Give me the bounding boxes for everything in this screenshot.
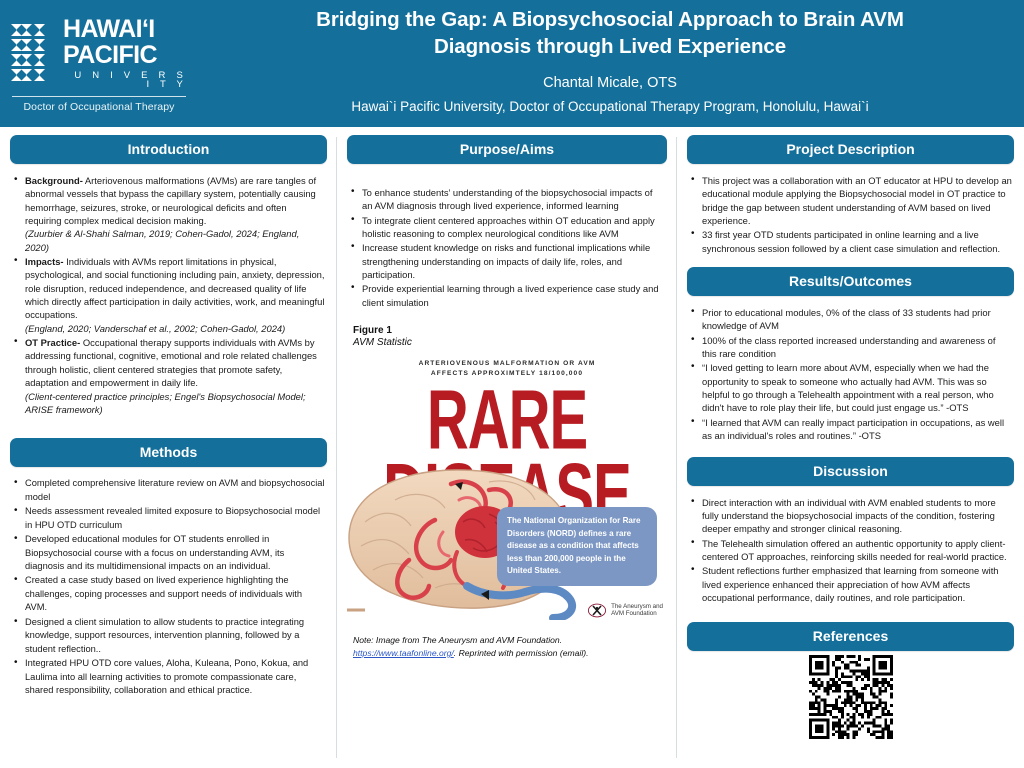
figure-source-link[interactable]: https://www.taafonline.org/ [353,648,454,658]
university-logo: HAWAI‘I PACIFIC U N I V E R S I T Y Doct… [0,0,196,127]
list-item: Designed a client simulation to allow st… [14,616,325,656]
figure-subtitle: AVM Statistic [353,337,665,348]
list-item: Impacts- Individuals with AVMs report li… [14,255,325,335]
list-item: This project was a collaboration with an… [691,174,1012,227]
introduction-list: Background- Arteriovenous malformations … [14,174,325,416]
intro-lead-1: Impacts- [25,256,64,267]
poster-affiliation: Hawai`i Pacific University, Doctor of Oc… [351,99,868,114]
poster-header: HAWAI‘I PACIFIC U N I V E R S I T Y Doct… [0,0,1024,127]
purpose-list: To enhance students’ understanding of th… [351,186,665,309]
intro-citation-1: (England, 2020; Vanderschaf et al., 2002… [25,322,325,335]
hpu-tapa-pattern-icon [10,22,56,84]
intro-lead-0: Background- [25,175,83,186]
logo-line-pacific: PACIFIC [63,43,188,68]
results-list: Prior to educational modules, 0% of the … [691,306,1012,442]
list-item: Developed educational modules for OT stu… [14,533,325,573]
logo-lockup: HAWAI‘I PACIFIC U N I V E R S I T Y [10,17,188,90]
column-center: Purpose/Aims To enhance students’ unders… [337,127,677,768]
list-item: 33 first year OTD students participated … [691,228,1012,255]
column-left: Introduction Background- Arteriovenous m… [0,127,337,768]
intro-citation-0: (Zuurbier & Al-Shahi Salman, 2019; Cohen… [25,227,325,254]
taaf-credit-line2: AVM Foundation [611,610,663,618]
references-qr-block [685,655,1016,739]
taaf-credit: The Aneurysm and AVM Foundation [587,603,663,619]
list-item: OT Practice- Occupational therapy suppor… [14,336,325,416]
taaf-logo-icon [587,603,607,618]
figure-note: Note: Image from The Aneurysm and AVM Fo… [353,634,663,660]
figure-note-before: Note: Image from The Aneurysm and AVM Fo… [353,635,562,645]
figure-image-line1: ARTERIOVENOUS MALFORMATION OR AVM [347,359,667,369]
list-item: Needs assessment revealed limited exposu… [14,505,325,532]
figure-note-after: . Reprinted with permission (email). [454,648,589,658]
list-item: “I loved getting to learn more about AVM… [691,361,1012,414]
column-right: Project Description This project was a c… [677,127,1024,768]
title-block: Bridging the Gap: A Biopsychosocial Appr… [196,0,1024,127]
section-heading-discussion: Discussion [687,457,1014,486]
list-item: Increase student knowledge on risks and … [351,241,665,281]
list-item: To integrate client centered approaches … [351,214,665,241]
list-item: Prior to educational modules, 0% of the … [691,306,1012,333]
section-heading-results: Results/Outcomes [687,267,1014,296]
logo-program-label: Doctor of Occupational Therapy [10,101,188,113]
section-heading-project-description: Project Description [687,135,1014,164]
nord-definition-callout: The National Organization for Rare Disor… [497,507,657,586]
taaf-credit-line1: The Aneurysm and [611,603,663,611]
section-heading-references: References [687,622,1014,651]
logo-line-university: U N I V E R S I T Y [63,71,188,90]
figure-image: ARTERIOVENOUS MALFORMATION OR AVM AFFECT… [347,355,667,620]
section-heading-purpose: Purpose/Aims [347,135,667,164]
list-item: Created a case study based on lived expe… [14,574,325,614]
intro-citation-2: (Client-centered practice principles; En… [25,390,325,417]
list-item: Integrated HPU OTD core values, Aloha, K… [14,657,325,697]
list-item: Student reflections further emphasized t… [691,564,1012,604]
intro-lead-2: OT Practice- [25,337,80,348]
methods-list: Completed comprehensive literature revie… [14,477,325,698]
intro-text-1: Individuals with AVMs report limitations… [25,256,325,320]
project-description-list: This project was a collaboration with an… [691,174,1012,255]
list-item: To enhance students’ understanding of th… [351,186,665,213]
list-item: “I learned that AVM can really impact pa… [691,416,1012,443]
discussion-list: Direct interaction with an individual wi… [691,496,1012,605]
list-item: 100% of the class reported increased und… [691,334,1012,361]
list-item: Direct interaction with an individual wi… [691,496,1012,536]
logo-wordmark: HAWAI‘I PACIFIC U N I V E R S I T Y [63,17,188,90]
list-item: The Telehealth simulation offered an aut… [691,537,1012,564]
qr-code-icon[interactable] [809,655,893,739]
logo-line-hawaii: HAWAI‘I [63,17,188,42]
poster-body: Introduction Background- Arteriovenous m… [0,127,1024,768]
poster-canvas: HAWAI‘I PACIFIC U N I V E R S I T Y Doct… [0,0,1024,768]
poster-title: Bridging the Gap: A Biopsychosocial Appr… [280,6,940,61]
logo-divider [12,96,186,97]
taaf-credit-text: The Aneurysm and AVM Foundation [611,603,663,619]
list-item: Background- Arteriovenous malformations … [14,174,325,254]
list-item: Provide experiential learning through a … [351,282,665,309]
section-heading-methods: Methods [10,438,327,467]
list-item: Completed comprehensive literature revie… [14,477,325,504]
section-heading-introduction: Introduction [10,135,327,164]
figure-label: Figure 1 [353,325,665,336]
poster-author: Chantal Micale, OTS [543,75,677,91]
